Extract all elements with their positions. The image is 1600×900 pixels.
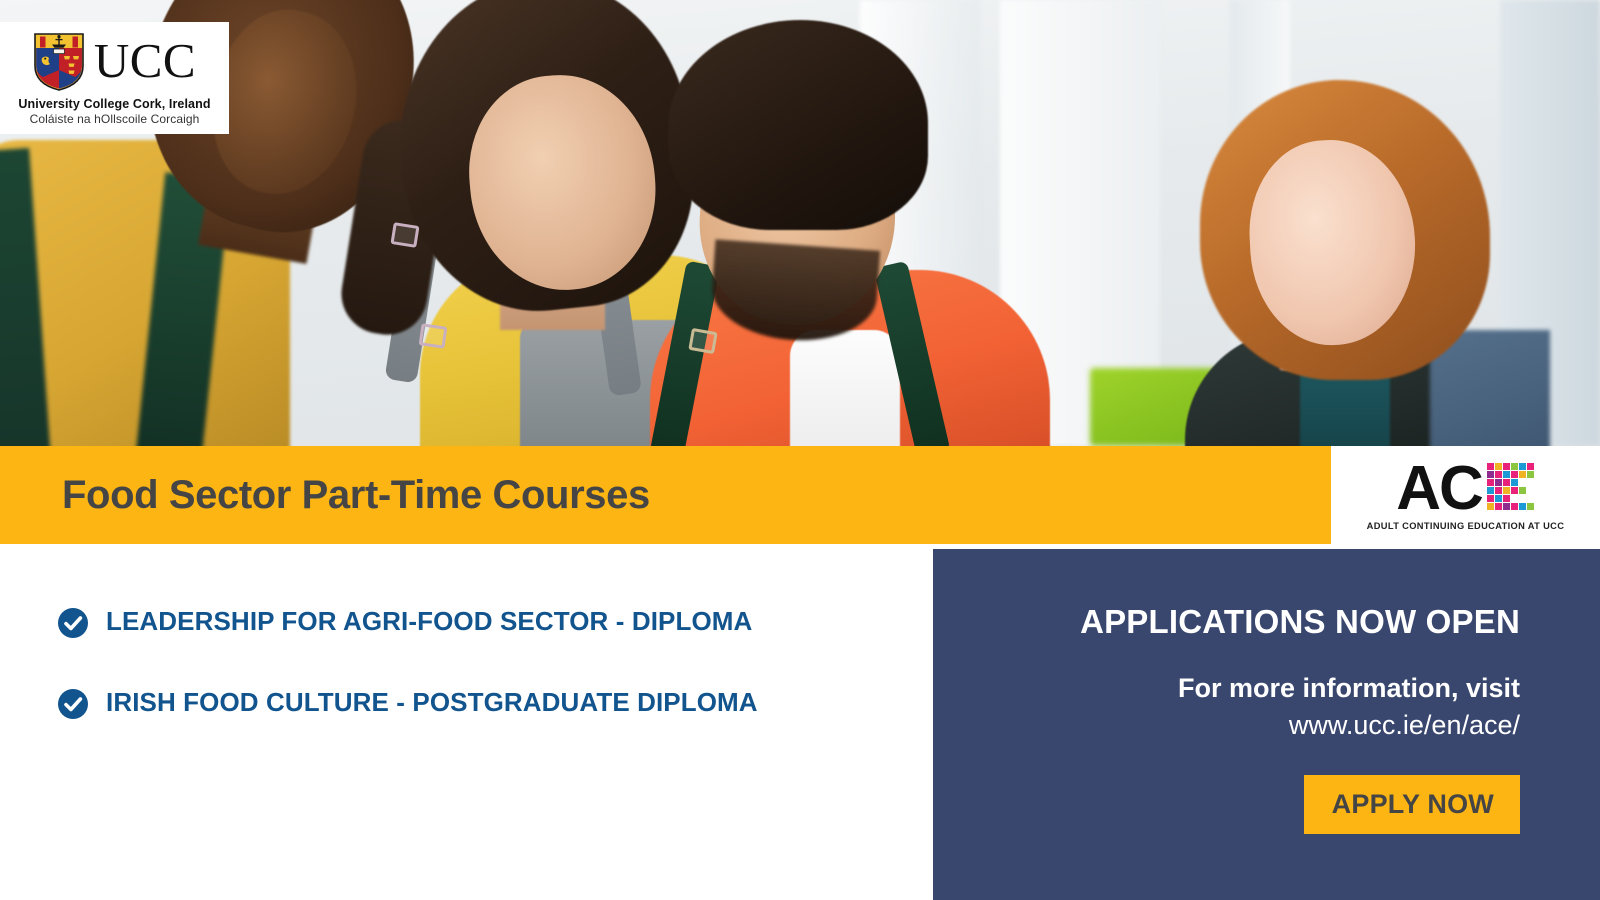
person-three-undershirt: [790, 330, 900, 446]
course-list: LEADERSHIP FOR AGRI-FOOD SECTOR - DIPLOM…: [0, 544, 933, 900]
ace-logo: AC: [1331, 446, 1600, 544]
ucc-name-english: University College Cork, Ireland: [18, 97, 210, 111]
check-circle-icon: [57, 688, 89, 720]
ucc-crest-icon: [33, 32, 85, 92]
ace-logo-wordmark: AC: [1396, 459, 1535, 519]
course-title: LEADERSHIP FOR AGRI-FOOD SECTOR - DIPLOM…: [106, 604, 752, 639]
hero-photo: [0, 0, 1600, 446]
cta-panel: APPLICATIONS NOW OPEN For more informati…: [933, 549, 1600, 900]
ucc-acronym: UCC: [94, 38, 196, 85]
ace-tagline: ADULT CONTINUING EDUCATION AT UCC: [1367, 521, 1565, 531]
cta-subheading: For more information, visit: [973, 672, 1520, 706]
ucc-name-irish: Coláiste na hOllscoile Corcaigh: [30, 112, 200, 126]
list-item[interactable]: IRISH FOOD CULTURE - POSTGRADUATE DIPLOM…: [57, 685, 843, 720]
promo-poster: UCC University College Cork, Ireland Col…: [0, 0, 1600, 900]
apron-buckle-icon: [390, 222, 419, 248]
list-item[interactable]: LEADERSHIP FOR AGRI-FOOD SECTOR - DIPLOM…: [57, 604, 843, 639]
title-banner: Food Sector Part-Time Courses: [0, 446, 1331, 544]
cta-heading: APPLICATIONS NOW OPEN: [973, 604, 1520, 640]
ace-pixel-e-icon: [1487, 463, 1535, 515]
apron-buckle-icon: [419, 323, 448, 348]
course-title: IRISH FOOD CULTURE - POSTGRADUATE DIPLOM…: [106, 685, 758, 720]
check-circle-icon: [57, 607, 89, 639]
ace-letters: AC: [1396, 458, 1482, 520]
person-three-hair: [668, 20, 928, 230]
cta-url[interactable]: www.ucc.ie/en/ace/: [973, 708, 1520, 743]
apply-now-button[interactable]: APPLY NOW: [1304, 775, 1520, 834]
ucc-logo: UCC University College Cork, Ireland Col…: [0, 22, 229, 134]
page-title: Food Sector Part-Time Courses: [62, 473, 650, 518]
apron-buckle-icon: [688, 328, 717, 354]
ucc-logo-top-row: UCC: [33, 32, 196, 92]
